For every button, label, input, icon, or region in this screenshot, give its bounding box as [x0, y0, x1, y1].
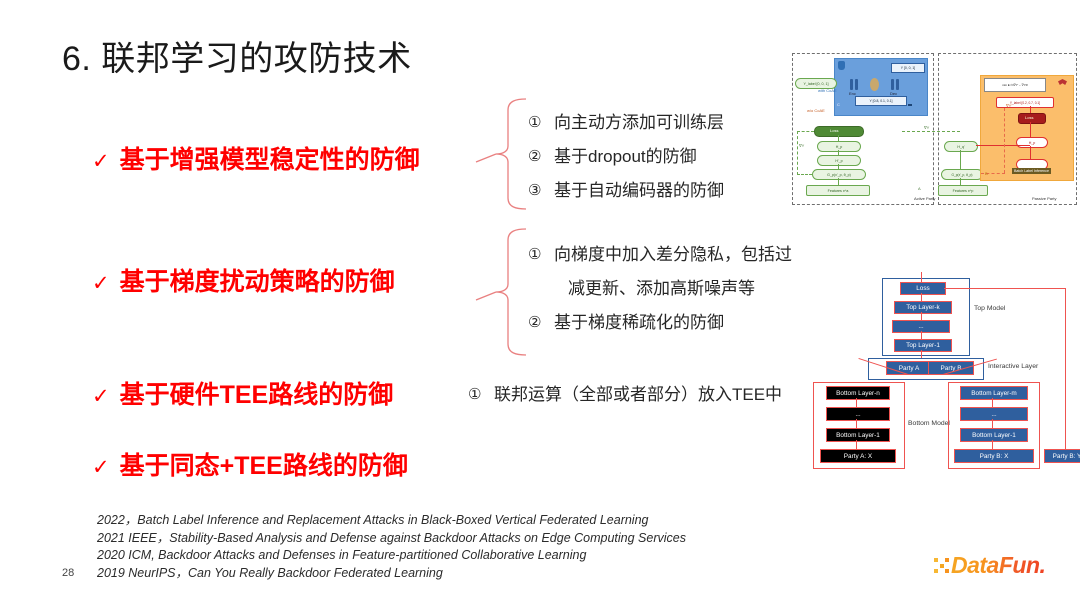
checkmark-icon: ✓ [92, 455, 110, 480]
wo-coae-label: w/o CoAE [807, 108, 825, 113]
edge [960, 178, 961, 185]
dashed-edge-grad [902, 131, 960, 132]
passive-hq-node: H_p [1016, 137, 1048, 148]
dashed-edge-v [797, 131, 799, 175]
interactive-layer-label: Interactive Layer [988, 363, 1038, 370]
node-top-layer-k: Top Layer-k [894, 301, 952, 314]
bullet-defense-tee: ✓ 基于硬件TEE路线的防御 [92, 375, 393, 411]
node-bottom-layer-n: Bottom Layer-n [826, 386, 890, 400]
dashed-grad-edge [1004, 108, 1005, 173]
marker-b: B [985, 171, 988, 176]
node-bottom-layer-1-left: Bottom Layer-1 [826, 428, 890, 442]
item-text: 基于dropout的防御 [554, 140, 697, 174]
y-pred-box-2: Y [0.8, 0.1, 0.1] [855, 96, 907, 106]
y-pred-box-1: Y [0, 0, 1] [891, 63, 925, 73]
page-title: 6. 联邦学习的攻防技术 [62, 31, 412, 80]
figure-split-neural-network: Loss Top Layer-k ... Top Layer-1 Top Mod… [808, 272, 1076, 472]
decoder-bar-2 [896, 79, 899, 90]
item-number: ① [528, 238, 554, 272]
edge-arrow [921, 350, 922, 358]
loss-label-active: Loss [830, 128, 838, 133]
reference-item: 2021 IEEE，Stability-Based Analysis and D… [97, 530, 686, 548]
bullet-label: 基于梯度扰动策略的防御 [120, 262, 395, 298]
edge [960, 150, 961, 169]
marker-c: C [837, 102, 840, 107]
brace-connector-gradient [474, 226, 532, 358]
edge-arrow-in [921, 272, 922, 282]
node-party-b-y: Party B: Y [1044, 449, 1080, 463]
node-loss: Loss [900, 282, 946, 295]
node-bottom-right-ellipsis: ... [960, 407, 1028, 421]
sublist-item: ① 向主动方添加可训练层 [528, 106, 724, 140]
sublist-item: ② 基于梯度稀疏化的防御 [528, 306, 792, 340]
edge-arrow [856, 440, 857, 449]
edge [838, 135, 839, 141]
node-party-b-x: Party B: X [954, 449, 1034, 463]
slide-canvas: 6. 联邦学习的攻防技术 ✓ 基于增强模型稳定性的防御 ✓ 基于梯度扰动策略的防… [0, 0, 1080, 607]
sublist-item: ② 基于dropout的防御 [528, 140, 724, 174]
edge-arrow [856, 398, 857, 407]
shield-icon [838, 61, 845, 70]
marker-a: A [918, 186, 921, 191]
hq-node: H_q' [944, 141, 978, 152]
edge [976, 145, 1030, 146]
bli-tag: Batch Label Inference [1012, 168, 1051, 174]
item-text-continued: 减更新、添加高斯噪声等 [554, 272, 792, 306]
sublist-item: ① 联邦运算（全部或者部分）放入TEE中 [468, 378, 782, 412]
sublist-gradient: ① 向梯度中加入差分隐私，包括过 减更新、添加高斯噪声等 ② 基于梯度稀疏化的防… [528, 238, 792, 340]
grad-y-label: ∇Y [924, 125, 929, 130]
edge [838, 150, 839, 155]
edge-feedback-horizontal [944, 288, 1066, 289]
dashed-edge [797, 131, 814, 132]
dashed-edge [797, 174, 812, 175]
bullet-defense-stability: ✓ 基于增强模型稳定性的防御 [92, 140, 420, 176]
reference-item: 2020 ICM, Backdoor Attacks and Defenses … [97, 547, 686, 565]
active-party-caption: Active Party [914, 196, 935, 201]
encoder-bar [850, 79, 853, 90]
item-text: 向梯度中加入差分隐私，包括过 [554, 245, 792, 264]
gq-node: G_p(x'_p, θ_p) [941, 169, 983, 180]
logo-dots-icon [934, 558, 949, 573]
item-text: 基于梯度稀疏化的防御 [554, 306, 724, 340]
checkmark-icon: ✓ [92, 271, 110, 296]
item-number: ② [528, 140, 554, 174]
bottom-model-label: Bottom Model [908, 420, 950, 427]
coae-tag [908, 104, 912, 106]
node-bottom-layer-1-right: Bottom Layer-1 [960, 428, 1028, 442]
item-number: ① [468, 378, 494, 412]
bullet-defense-he-tee: ✓ 基于同态+TEE路线的防御 [92, 446, 408, 482]
sublist-stability: ① 向主动方添加可训练层 ② 基于dropout的防御 ③ 基于自动编码器的防御 [528, 106, 724, 208]
checkmark-icon: ✓ [92, 149, 110, 174]
item-text: 向主动方添加可训练层 [554, 106, 724, 140]
loss-node-active [814, 126, 864, 137]
features-active-box: Features x^a [806, 185, 870, 196]
logo-text: DataFun. [951, 552, 1045, 579]
node-bottom-layer-m: Bottom Layer-m [960, 386, 1028, 400]
edge-feedback-vertical [1065, 288, 1066, 449]
checkmark-icon: ✓ [92, 384, 110, 409]
top-model-label: Top Model [974, 305, 1005, 312]
item-number: ③ [528, 174, 554, 208]
edge-arrow [992, 398, 993, 407]
sublist-item: ③ 基于自动编码器的防御 [528, 174, 724, 208]
edge-arrow [921, 331, 922, 339]
bullet-label: 基于硬件TEE路线的防御 [120, 375, 394, 411]
edge [1030, 146, 1031, 159]
item-text: 联邦运算（全部或者部分）放入TEE中 [494, 378, 782, 412]
node-top-layer-1: Top Layer-1 [894, 339, 952, 352]
edge-arrow [921, 293, 922, 301]
grad-y-active-label: ∇Y [799, 143, 804, 148]
encoder-bar-2 [855, 79, 858, 90]
objective-formula-box: min E ℓ ‖∇Y' − ∇Y‖² [984, 78, 1046, 92]
node-party-a-x: Party A: X [820, 449, 896, 463]
passive-label-box: Y_label [0.2, 0.7, 0.1] [996, 97, 1054, 108]
sublist-item: ① 向梯度中加入差分隐私，包括过 减更新、添加高斯噪声等 [528, 238, 792, 306]
bullet-label: 基于增强模型稳定性的防御 [120, 140, 420, 176]
sublist-tee: ① 联邦运算（全部或者部分）放入TEE中 [468, 378, 782, 412]
grad-yp-label: ∇Y' [1006, 103, 1012, 108]
reference-item: 2019 NeurIPS，Can You Really Backdoor Fed… [97, 565, 686, 583]
datafun-logo: DataFun. [934, 552, 1045, 579]
references-list: 2022，Batch Label Inference and Replaceme… [97, 512, 686, 582]
edge-arrow [992, 419, 993, 428]
decoder-bar [891, 79, 894, 90]
item-number: ① [528, 106, 554, 140]
edge [838, 178, 839, 185]
with-coae-label: with CoAE [818, 88, 837, 93]
edge [1030, 106, 1031, 113]
latent-node [870, 78, 879, 91]
edge [1030, 122, 1031, 137]
page-number: 28 [62, 567, 74, 579]
bullet-defense-gradient: ✓ 基于梯度扰动策略的防御 [92, 262, 395, 298]
edge [838, 164, 839, 169]
brace-connector-stability [474, 96, 532, 212]
hp2-node: H'_p [817, 155, 861, 166]
hp-node: H_p [817, 141, 861, 152]
gp-node: G_p(x'_p, θ_p) [812, 169, 866, 180]
node-party-a: Party A [886, 361, 932, 375]
node-bottom-left-ellipsis: ... [826, 407, 890, 421]
features-passive-box: Features x^p [938, 185, 988, 196]
passive-party-caption: Passive Party [1032, 196, 1056, 201]
reference-item: 2022，Batch Label Inference and Replaceme… [97, 512, 686, 530]
passive-loss-label: Loss [1025, 115, 1033, 120]
item-number: ② [528, 306, 554, 340]
edge-arrow [921, 312, 922, 320]
figure-vertical-federated-learning: Enc Dec Y [0, 0, 1] Y [0.8, 0.1, 0.1] C … [792, 53, 1075, 216]
bullet-label: 基于同态+TEE路线的防御 [120, 446, 408, 482]
item-text: 基于自动编码器的防御 [554, 174, 724, 208]
edge-arrow [992, 440, 993, 449]
edge-arrow [856, 419, 857, 428]
